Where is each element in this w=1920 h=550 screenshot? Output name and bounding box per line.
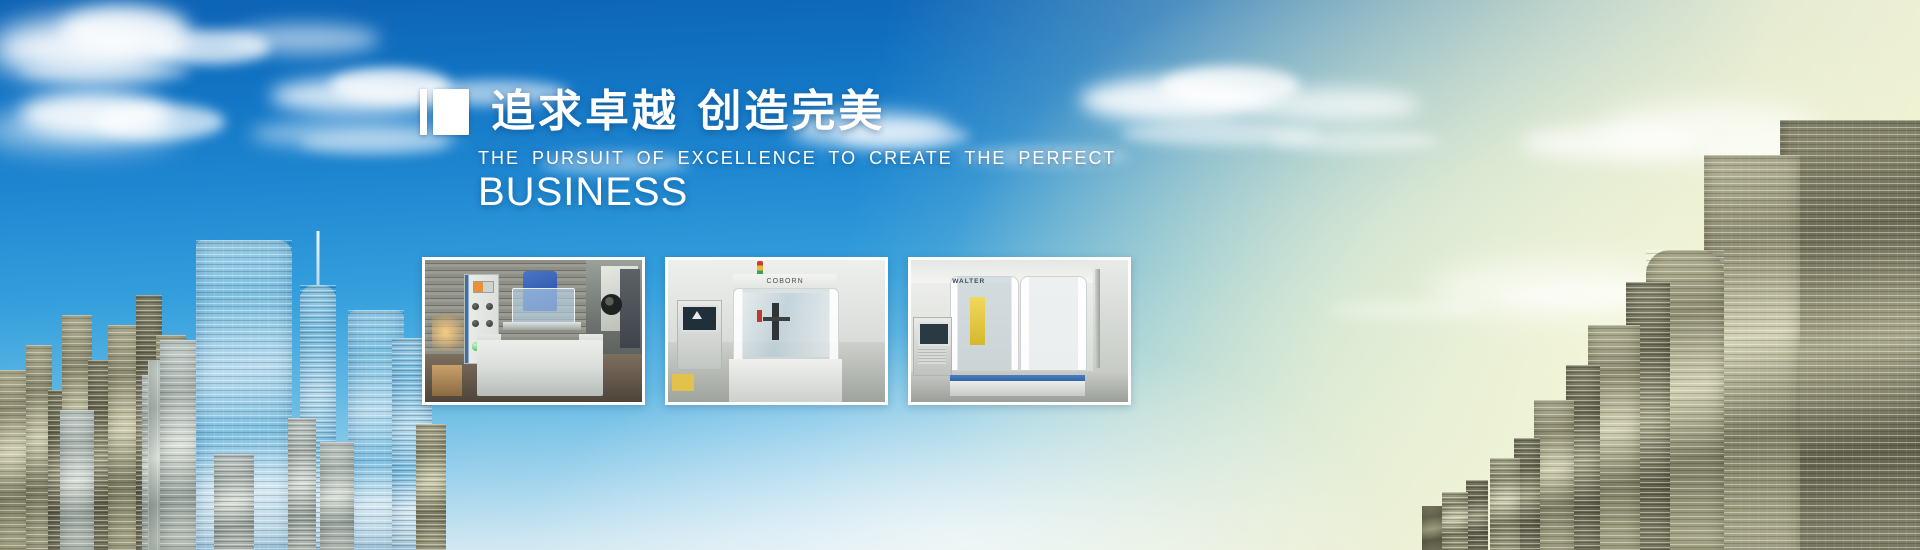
headline-chinese: 追求卓越 创造完美 — [491, 90, 885, 134]
business-word: BUSINESS — [478, 170, 688, 215]
machine-label-walter: WALTER — [952, 278, 985, 285]
company-logo — [420, 88, 469, 136]
headline-row: 追求卓越 创造完美 — [420, 88, 885, 136]
photo-surface-grinder[interactable] — [422, 257, 645, 405]
logo-square-icon — [433, 89, 469, 135]
tagline-english: THE PURSUIT OF EXCELLENCE TO CREATE THE … — [478, 148, 1116, 169]
logo-bar-icon — [420, 89, 427, 135]
banner-content: 追求卓越 创造完美 THE PURSUIT OF EXCELLENCE TO C… — [0, 0, 1920, 550]
photo-coborn-machine[interactable]: COBORN — [665, 257, 888, 405]
photo-strip: COBORN WALTER — [422, 257, 1131, 405]
hero-banner: 追求卓越 创造完美 THE PURSUIT OF EXCELLENCE TO C… — [0, 0, 1920, 550]
photo-walter-machine[interactable]: WALTER — [908, 257, 1131, 405]
machine-label-coborn: COBORN — [733, 278, 837, 285]
